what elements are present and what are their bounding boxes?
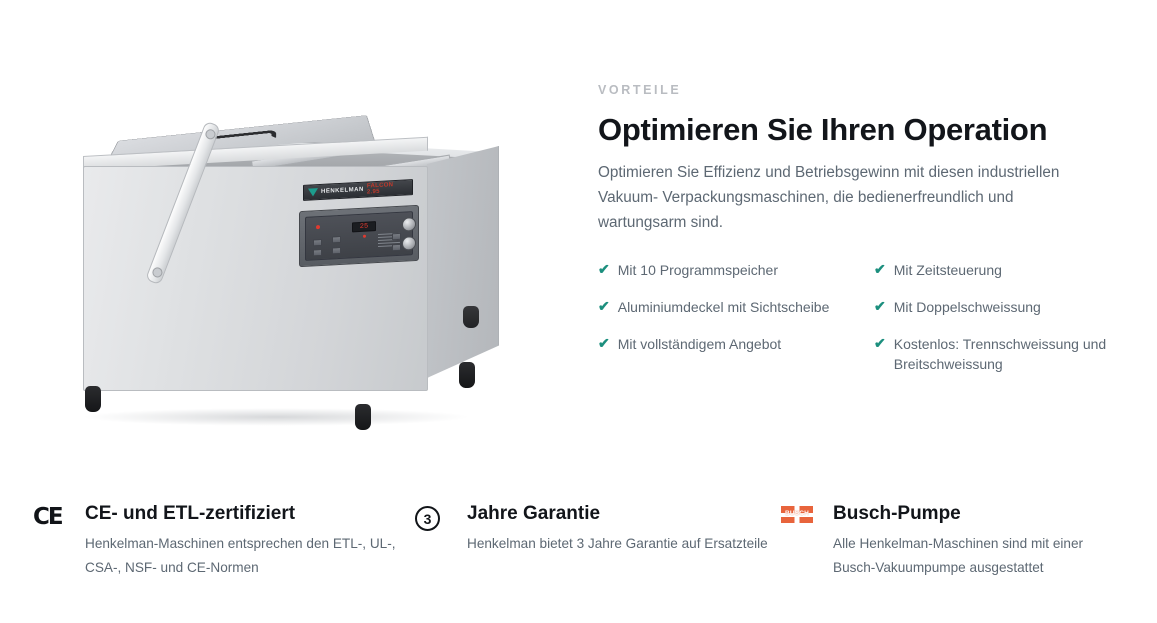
feature-text: Busch-Pumpe Alle Henkelman-Maschinen sin… [833,503,1111,579]
henkelman-triangle-icon [308,188,318,197]
caster-wheel [459,362,475,388]
list-item-label: Aluminiumdeckel mit Sichtscheibe [618,297,830,317]
list-item: ✔ Mit 10 Programmspeicher [598,260,874,280]
product-image: HENKELMAN FALCON 2.95 25 [0,46,580,466]
check-icon: ✔ [874,260,886,280]
product-image-stage: HENKELMAN FALCON 2.95 25 [55,56,555,456]
busch-logo-text: BUSCH [785,511,809,518]
list-item: ✔ Mit vollständigem Angebot [598,334,874,354]
benefits-copy: VORTEILE Optimieren Sie Ihren Operation … [598,84,1118,392]
ce-mark-text: CE [33,506,62,579]
list-item-label: Mit vollständigem Angebot [618,334,781,354]
program-led [363,235,366,238]
busch-logo-icon: BUSCH [781,503,819,579]
power-indicator-led [316,225,320,229]
decrement-button [392,244,401,251]
benefits-section: HENKELMAN FALCON 2.95 25 [0,0,1157,623]
feature-block-certification: CE CE- und ETL-zertifiziert Henkelman-Ma… [33,503,423,579]
list-item-label: Mit Doppelschweissung [894,297,1041,317]
cabinet-side-panel [427,146,499,378]
caster-wheel [355,404,371,430]
circled-three-icon: 3 [415,503,453,579]
section-lede: Optimieren Sie Effizienz und Betriebsgew… [598,161,1103,235]
machine-floor-shadow [81,408,471,426]
feature-title: Jahre Garantie [467,503,768,526]
increment-button [392,233,401,240]
checklist-column-left: ✔ Mit 10 Programmspeicher ✔ Aluminiumdec… [598,260,874,392]
feature-blocks: CE CE- und ETL-zertifiziert Henkelman-Ma… [0,503,1157,579]
check-icon: ✔ [598,260,610,280]
list-item: ✔ Mit Zeitsteuerung [874,260,1118,280]
caster-wheel [463,306,479,328]
vacuum-gauge-icon [402,217,416,232]
list-item-label: Mit 10 Programmspeicher [618,260,778,280]
check-icon: ✔ [874,334,886,354]
section-eyebrow: VORTEILE [598,84,1118,97]
feature-description: Alle Henkelman-Maschinen sind mit einer … [833,532,1111,580]
check-icon: ✔ [874,297,886,317]
panel-button [332,247,341,254]
digital-display: 25 [352,221,376,232]
caster-wheel [85,386,101,412]
machine-control-panel: 25 [299,205,419,267]
page-title: Optimieren Sie Ihren Operation [598,113,1118,148]
feature-text: Jahre Garantie Henkelman bietet 3 Jahre … [467,503,768,579]
feature-description: Henkelman-Maschinen entsprechen den ETL-… [85,532,423,580]
feature-block-pump: BUSCH Busch-Pumpe Alle Henkelman-Maschin… [781,503,1111,579]
feature-title: Busch-Pumpe [833,503,1111,526]
busch-logo-mark: BUSCH [781,506,813,523]
feature-description: Henkelman bietet 3 Jahre Garantie auf Er… [467,532,768,556]
feature-title: CE- und ETL-zertifiziert [85,503,423,526]
list-item: ✔ Mit Doppelschweissung [874,297,1118,317]
check-icon: ✔ [598,297,610,317]
panel-button [313,239,322,246]
checklist-column-right: ✔ Mit Zeitsteuerung ✔ Mit Doppelschweiss… [874,260,1118,392]
benefits-checklist: ✔ Mit 10 Programmspeicher ✔ Aluminiumdec… [598,260,1118,392]
feature-text: CE- und ETL-zertifiziert Henkelman-Masch… [85,503,423,579]
check-icon: ✔ [598,334,610,354]
circled-three-text: 3 [415,506,440,531]
panel-button [332,236,341,243]
stop-button-icon [402,236,416,251]
control-panel-face: 25 [305,211,413,261]
list-item-label: Kostenlos: Trennschweissung und Breitsch… [894,334,1118,375]
panel-button [313,249,322,256]
list-item-label: Mit Zeitsteuerung [894,260,1002,280]
list-item: ✔ Kostenlos: Trennschweissung und Breits… [874,334,1118,375]
list-item: ✔ Aluminiumdeckel mit Sichtscheibe [598,297,874,317]
ce-mark-icon: CE [33,503,71,579]
feature-block-warranty: 3 Jahre Garantie Henkelman bietet 3 Jahr… [415,503,790,579]
henkelman-brand-text: HENKELMAN [321,187,364,195]
henkelman-model-text: FALCON 2.95 [367,181,408,195]
cabinet-front-panel [83,166,428,391]
